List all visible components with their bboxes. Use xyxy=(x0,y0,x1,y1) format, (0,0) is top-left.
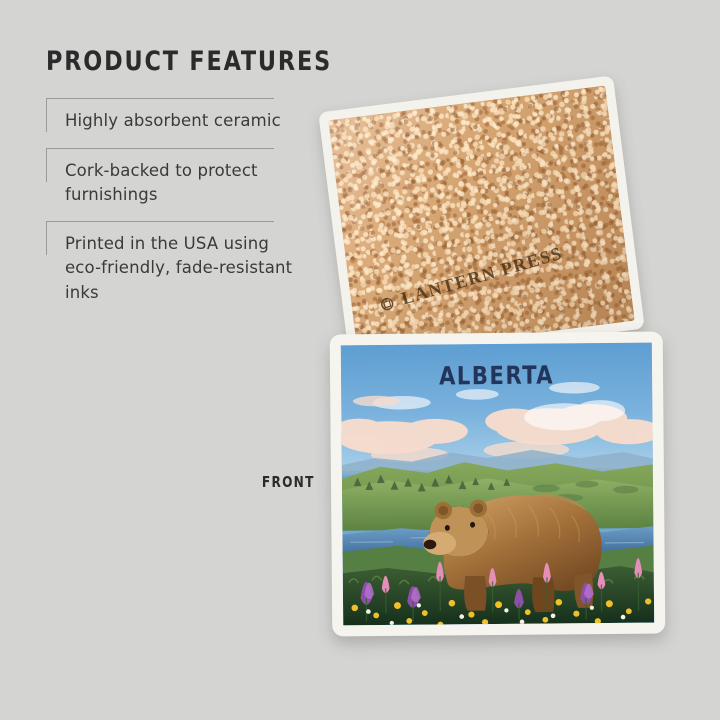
page-title: PRODUCT FEATURES xyxy=(46,48,276,76)
feature-item: Printed in the USA using eco-friendly, f… xyxy=(46,221,296,305)
feature-item: Cork-backed to protect furnishings xyxy=(46,148,296,208)
brand-stamp: LANTERN PRESS xyxy=(376,243,565,316)
feature-divider xyxy=(46,148,274,149)
label-front: FRONT xyxy=(262,473,315,491)
product-features-panel: PRODUCT FEATURES Highly absorbent cerami… xyxy=(46,48,296,319)
feature-tick xyxy=(46,221,47,255)
feature-divider xyxy=(46,221,274,222)
coaster-front: ALBERTA xyxy=(330,332,666,637)
feature-item: Highly absorbent ceramic xyxy=(46,98,296,133)
feature-text: Printed in the USA using eco-friendly, f… xyxy=(65,232,296,305)
alberta-scene xyxy=(341,343,654,626)
lantern-icon xyxy=(377,293,398,314)
cork-surface: LANTERN PRESS xyxy=(328,85,635,355)
feature-divider xyxy=(46,98,274,99)
coaster-artwork: ALBERTA xyxy=(341,343,654,626)
feature-text: Cork-backed to protect furnishings xyxy=(65,159,296,208)
brand-name: LANTERN PRESS xyxy=(399,243,565,310)
feature-tick xyxy=(46,98,47,132)
product-feature-graphic: PRODUCT FEATURES Highly absorbent cerami… xyxy=(0,0,720,720)
feature-text: Highly absorbent ceramic xyxy=(65,109,296,133)
feature-tick xyxy=(46,148,47,182)
coaster-back: LANTERN PRESS xyxy=(318,75,645,365)
cork-shading xyxy=(328,85,635,355)
